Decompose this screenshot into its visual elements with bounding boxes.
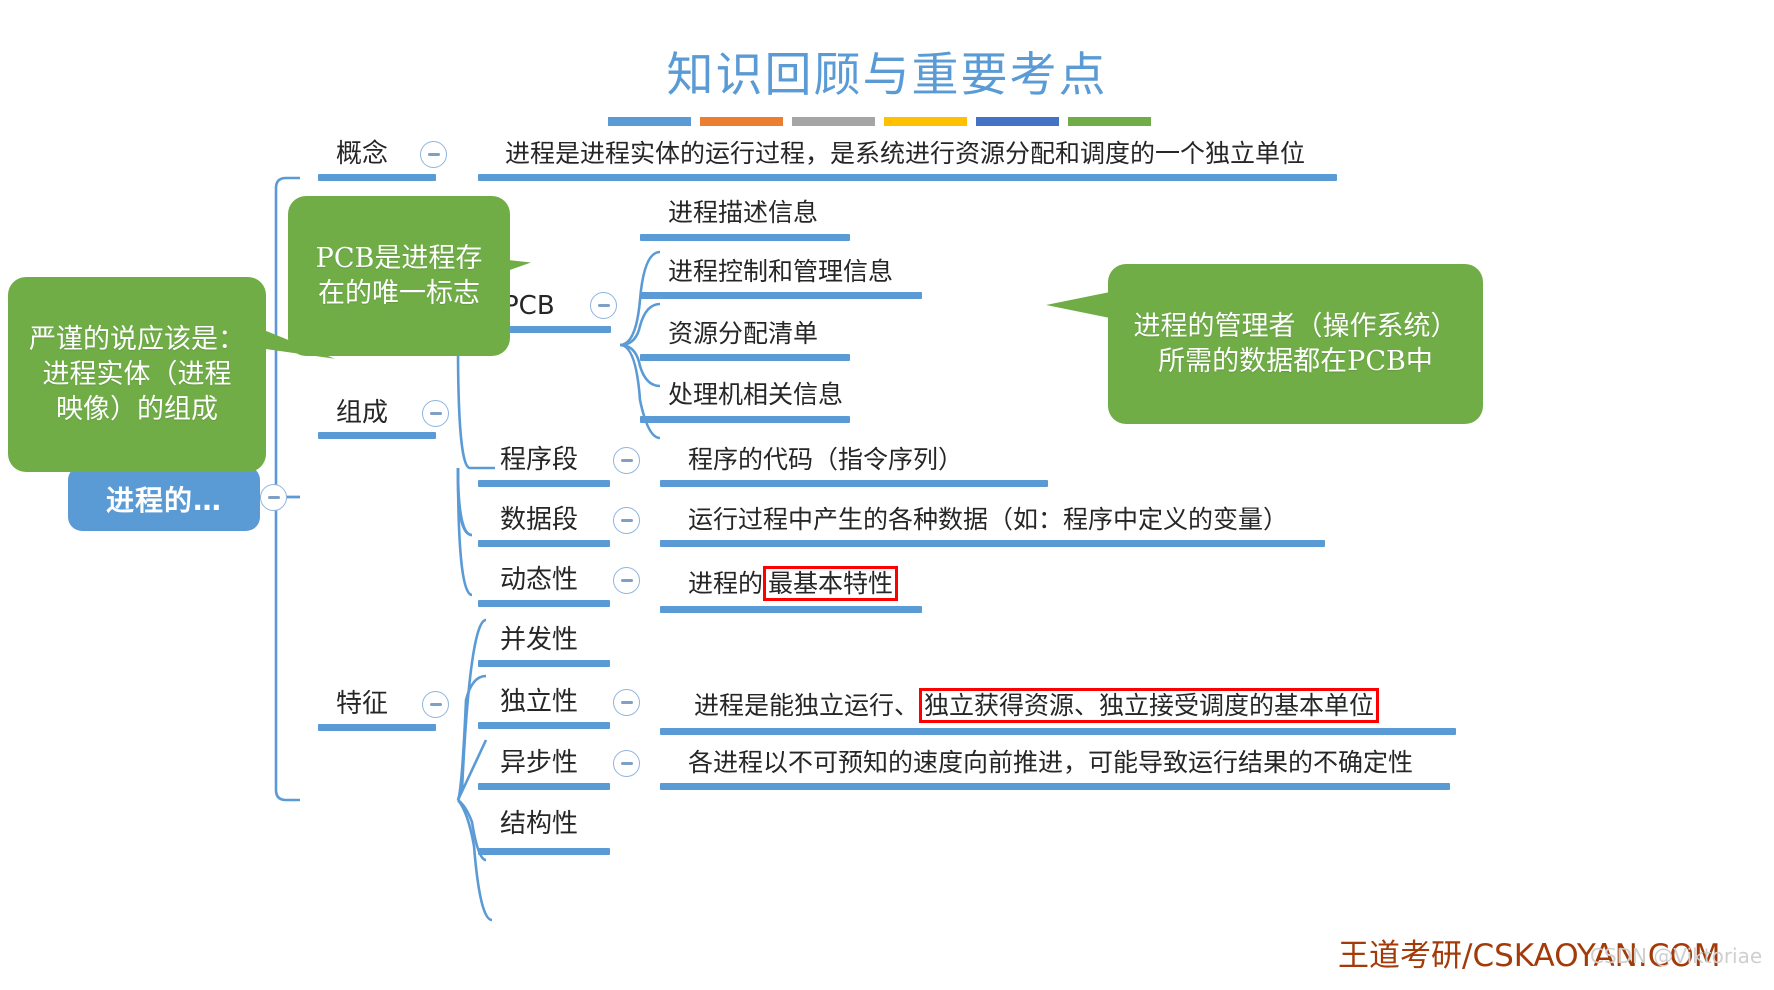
mindmap-canvas: 知识回顾与重要考点 xyxy=(0,0,1774,990)
underline-pcb-item-3 xyxy=(640,416,850,423)
node-composition-label[interactable]: 组成 xyxy=(336,399,388,428)
node-concurrent-label[interactable]: 并发性 xyxy=(500,626,578,655)
accent-bar-green xyxy=(1068,117,1151,126)
accent-bar-gray xyxy=(792,117,875,126)
callout-strict-note[interactable]: 严谨的说应该是： 进程实体（进程 映像）的组成 xyxy=(8,277,266,472)
underline-concept-detail xyxy=(478,174,1337,181)
underline-independent xyxy=(478,722,610,729)
collapse-features[interactable] xyxy=(422,691,449,718)
root-node-label: 进程的… xyxy=(106,479,222,519)
underline-pcb-item-0 xyxy=(640,234,850,241)
underline-concept xyxy=(318,174,436,181)
collapse-concept[interactable] xyxy=(420,141,447,168)
node-asynchronous-detail[interactable]: 各进程以不可预知的速度向前推进，可能导致运行结果的不确定性 xyxy=(688,749,1413,777)
underline-composition xyxy=(318,432,436,439)
underline-asynchronous xyxy=(478,783,610,790)
accent-bar-blue xyxy=(608,117,691,126)
underline-pcb-item-1 xyxy=(640,292,922,299)
root-node[interactable]: 进程的… xyxy=(68,466,260,531)
underline-data-segment xyxy=(478,540,610,547)
callout-pcb-note[interactable]: PCB是进程存 在的唯一标志 xyxy=(288,196,510,356)
accent-bar-darkblue xyxy=(976,117,1059,126)
callout-manager-note-text: 进程的管理者（操作系统） 所需的数据都在PCB中 xyxy=(1134,311,1458,377)
collapse-asynchronous[interactable] xyxy=(613,750,640,777)
callout-pcb-tail xyxy=(483,258,531,285)
underline-data-segment-detail xyxy=(660,540,1325,547)
node-data-segment-label[interactable]: 数据段 xyxy=(500,506,578,535)
highlight-dynamic: 最基本特性 xyxy=(763,566,898,601)
underline-dynamic-detail xyxy=(660,606,922,613)
node-program-segment-detail[interactable]: 程序的代码（指令序列） xyxy=(688,446,963,474)
node-features-label[interactable]: 特征 xyxy=(336,690,388,719)
node-pcb-item-1[interactable]: 进程控制和管理信息 xyxy=(668,258,893,286)
underline-asynchronous-detail xyxy=(660,783,1450,790)
node-dynamic-detail-prefix: 进程的 xyxy=(688,569,763,598)
underline-dynamic xyxy=(478,600,610,607)
node-pcb-item-0[interactable]: 进程描述信息 xyxy=(668,199,818,227)
underline-structural xyxy=(478,848,610,855)
watermark-csdn: CSDN @Viktoriae xyxy=(1590,944,1762,968)
collapse-dynamic[interactable] xyxy=(613,567,640,594)
node-independent-label[interactable]: 独立性 xyxy=(500,688,578,717)
callout-manager-tail xyxy=(1046,292,1110,318)
underline-features xyxy=(318,724,436,731)
node-data-segment-detail[interactable]: 运行过程中产生的各种数据（如：程序中定义的变量） xyxy=(688,506,1288,534)
page-title: 知识回顾与重要考点 xyxy=(0,36,1774,105)
node-dynamic-label[interactable]: 动态性 xyxy=(500,566,578,595)
callout-manager-note[interactable]: 进程的管理者（操作系统） 所需的数据都在PCB中 xyxy=(1108,264,1483,424)
underline-program-segment xyxy=(478,480,610,487)
node-asynchronous-label[interactable]: 异步性 xyxy=(500,749,578,778)
node-independent-detail[interactable]: 进程是能独立运行、独立获得资源、独立接受调度的基本单位 xyxy=(694,688,1379,723)
underline-concurrent xyxy=(478,660,610,667)
collapse-data-segment[interactable] xyxy=(613,507,640,534)
node-structural-label[interactable]: 结构性 xyxy=(500,810,578,839)
underline-independent-detail xyxy=(660,728,1456,735)
accent-bar-orange xyxy=(700,117,783,126)
collapse-independent[interactable] xyxy=(613,689,640,716)
node-pcb-label[interactable]: PCB xyxy=(503,292,555,321)
callout-pcb-note-text: PCB是进程存 在的唯一标志 xyxy=(316,243,483,309)
collapse-pcb[interactable] xyxy=(590,292,617,319)
node-pcb-item-2[interactable]: 资源分配清单 xyxy=(668,320,818,348)
root-collapse-toggle[interactable] xyxy=(260,484,287,511)
callout-strict-note-text: 严谨的说应该是： 进程实体（进程 映像）的组成 xyxy=(29,324,245,425)
highlight-independent: 独立获得资源、独立接受调度的基本单位 xyxy=(919,688,1379,723)
node-program-segment-label[interactable]: 程序段 xyxy=(500,446,578,475)
collapse-composition[interactable] xyxy=(422,400,449,427)
underline-pcb-item-2 xyxy=(640,354,850,361)
node-concept-detail[interactable]: 进程是进程实体的运行过程，是系统进行资源分配和调度的一个独立单位 xyxy=(505,140,1305,168)
accent-bar-yellow xyxy=(884,117,967,126)
accent-bar-group xyxy=(608,117,1151,126)
node-pcb-item-3[interactable]: 处理机相关信息 xyxy=(668,381,843,409)
node-dynamic-detail[interactable]: 进程的最基本特性 xyxy=(688,566,898,601)
node-independent-detail-prefix: 进程是能独立运行、 xyxy=(694,691,919,720)
collapse-program-segment[interactable] xyxy=(613,447,640,474)
underline-program-segment-detail xyxy=(660,480,1048,487)
node-concept-label[interactable]: 概念 xyxy=(336,140,388,169)
